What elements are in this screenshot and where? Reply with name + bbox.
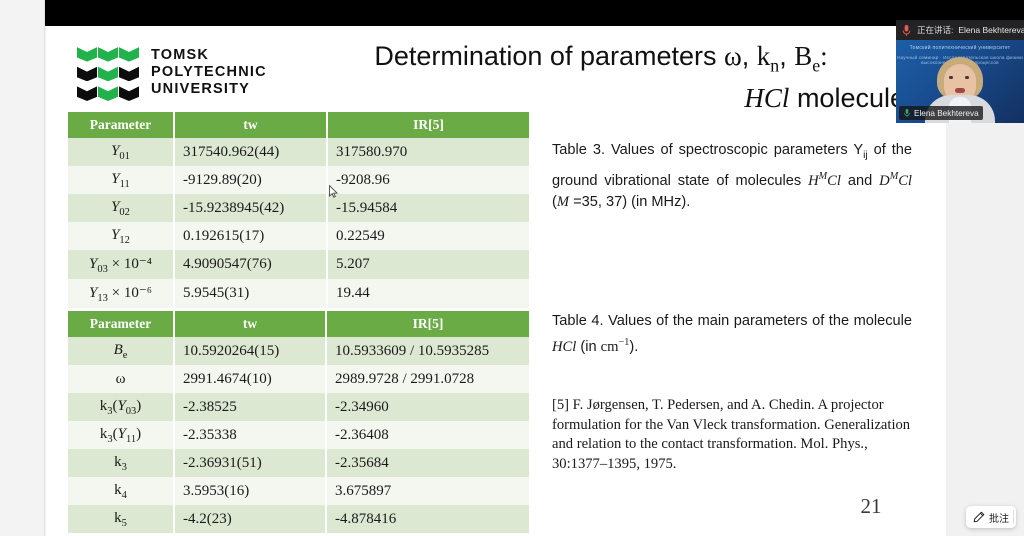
table-row: Y01317540.962(44)317580.970 (68, 138, 529, 166)
table-4-col-parameter: Parameter (68, 311, 174, 337)
cell-ir-value: 2989.9728 / 2991.0728 (326, 365, 529, 393)
cell-ir-value: -2.34960 (326, 393, 529, 421)
slide-title-line-2: HCl molecule (291, 82, 911, 115)
logo-line-1: TOMSK (151, 47, 267, 64)
table-4-col-ir: IR[5] (326, 311, 529, 337)
speaking-now-label: 正在讲话: (917, 24, 953, 36)
page-left-margin (0, 0, 45, 536)
video-inner-slide-title: Томский политехнический университет (896, 45, 1024, 51)
logo-line-2: POLYTECHNIC (151, 64, 267, 81)
logo-line-3: UNIVERSITY (151, 81, 267, 98)
cell-ir-value: -4.878416 (326, 505, 529, 533)
microphone-icon (901, 24, 912, 37)
video-tile-header: 正在讲话: Elena Bekhtereva (896, 20, 1024, 40)
title-k: k (757, 41, 771, 71)
table-row: Y13 × 10⁻⁶5.9545(31)19.44 (68, 279, 529, 308)
table-row: k3(Y11)-2.35338-2.36408 (68, 421, 529, 449)
table-4-header-row: Parameter tw IR[5] (68, 311, 529, 337)
title-comma-1: , (742, 41, 757, 71)
table-row: Y11-9129.89(20)-9208.96 (68, 166, 529, 194)
participant-video-tile[interactable]: 正在讲话: Elena Bekhtereva Томский политехни… (896, 20, 1024, 123)
cell-parameter: k4 (68, 477, 174, 505)
cell-parameter: k3(Y11) (68, 421, 174, 449)
cell-ir-value: 5.207 (327, 250, 529, 279)
active-speaker-name: Elena Bekhtereva (958, 25, 1024, 35)
tpu-logo-mark-icon (77, 43, 139, 101)
cell-ir-value: 0.22549 (327, 222, 529, 250)
annotate-label: 批注 (989, 510, 1009, 525)
table-row: Be10.5920264(15)10.5933609 / 10.5935285 (68, 337, 529, 365)
cell-tw-value: -4.2(23) (174, 505, 326, 533)
toolbar-divider (1013, 510, 1014, 524)
title-k-subscript: n (770, 55, 779, 75)
cell-tw-value: 2991.4674(10) (174, 365, 326, 393)
title-omega: ω (724, 41, 742, 71)
cell-ir-value: -2.35684 (326, 449, 529, 477)
cell-tw-value: -15.9238945(42) (174, 194, 327, 222)
cell-tw-value: 3.5953(16) (174, 477, 326, 505)
slide-title: Determination of parameters ω, kn, Be: H… (291, 40, 911, 115)
tpu-logo-wordmark: TOMSK POLYTECHNIC UNIVERSITY (151, 47, 267, 98)
cell-parameter: Y02 (68, 194, 174, 222)
caption-3-molecule-hcl: HMCl (808, 173, 841, 189)
tpu-logo: TOMSK POLYTECHNIC UNIVERSITY (77, 43, 267, 101)
reference-5: [5] F. Jørgensen, T. Pedersen, and A. Ch… (552, 396, 912, 474)
table-row: ω2991.4674(10)2989.9728 / 2991.0728 (68, 365, 529, 393)
cell-tw-value: 10.5920264(15) (174, 337, 326, 365)
cell-parameter: ω (68, 365, 174, 393)
table-row: k43.5953(16)3.675897 (68, 477, 529, 505)
title-text-prefix: Determination of parameters (374, 41, 724, 71)
cell-parameter: k3 (68, 449, 174, 477)
cell-ir-value: 317580.970 (327, 138, 529, 166)
cell-tw-value: -2.36931(51) (174, 449, 326, 477)
cell-ir-value: 10.5933609 / 10.5935285 (326, 337, 529, 365)
table-row: Y120.192615(17)0.22549 (68, 222, 529, 250)
table-row: Y03 × 10⁻⁴4.9090547(76)5.207 (68, 250, 529, 279)
cell-tw-value: 5.9545(31) (174, 279, 327, 308)
table-4-caption: Table 4. Values of the main parameters o… (552, 311, 912, 358)
pencil-icon (973, 511, 985, 523)
cell-parameter: Y11 (68, 166, 174, 194)
caption-3-sub-ij: ij (863, 150, 868, 161)
cell-parameter: Be (68, 337, 174, 365)
cell-parameter: Y01 (68, 138, 174, 166)
cell-tw-value: 4.9090547(76) (174, 250, 327, 279)
cell-tw-value: -2.35338 (174, 421, 326, 449)
table-3-spectroscopic-parameters: Parameter tw IR[5] Y01317540.962(44)3175… (68, 112, 529, 308)
cell-ir-value: -2.36408 (326, 421, 529, 449)
title-comma-2: , (779, 41, 794, 71)
title-colon: : (820, 41, 828, 71)
cell-tw-value: 0.192615(17) (174, 222, 327, 250)
cell-parameter: Y03 × 10⁻⁴ (68, 250, 174, 279)
table-row: k5-4.2(23)-4.878416 (68, 505, 529, 533)
cell-ir-value: -9208.96 (327, 166, 529, 194)
title-molecule-formula: HCl (744, 83, 789, 113)
title-B: B (794, 41, 812, 71)
table-4-main-parameters: Parameter tw IR[5] Be10.5920264(15)10.59… (68, 311, 529, 533)
table-3-col-parameter: Parameter (68, 112, 174, 138)
cell-parameter: Y12 (68, 222, 174, 250)
screenshare-letterbox-bar (45, 0, 1024, 26)
cell-parameter: k3(Y03) (68, 393, 174, 421)
table-3-col-tw: tw (174, 112, 327, 138)
title-molecule-word: molecule (789, 83, 905, 113)
video-tile-body: Томский политехнический университет Науч… (896, 40, 1024, 123)
cell-ir-value: 3.675897 (326, 477, 529, 505)
cell-parameter: k5 (68, 505, 174, 533)
presentation-slide: TOMSK POLYTECHNIC UNIVERSITY Determinati… (46, 26, 946, 536)
slide-page-number: 21 (836, 494, 906, 519)
table-3-header-row: Parameter tw IR[5] (68, 112, 529, 138)
table-3-caption: Table 3. Values of spectroscopic paramet… (552, 140, 912, 213)
annotate-button[interactable]: 批注 (966, 506, 1016, 528)
table-row: Y02-15.9238945(42)-15.94584 (68, 194, 529, 222)
shared-screen-view: TOMSK POLYTECHNIC UNIVERSITY Determinati… (0, 0, 1024, 536)
cell-ir-value: 19.44 (327, 279, 529, 308)
cell-ir-value: -15.94584 (327, 194, 529, 222)
cell-tw-value: -9129.89(20) (174, 166, 327, 194)
title-B-subscript: e (812, 55, 820, 75)
table-3-col-ir: IR[5] (327, 112, 529, 138)
table-4-body: Be10.5920264(15)10.5933609 / 10.5935285ω… (68, 337, 529, 533)
microphone-icon-small (903, 108, 911, 118)
participant-name-label: Elena Bekhtereva (914, 109, 979, 118)
cell-parameter: Y13 × 10⁻⁶ (68, 279, 174, 308)
caption-3-molecule-dcl: DMCl (879, 173, 912, 189)
cell-tw-value: -2.38525 (174, 393, 326, 421)
table-4-col-tw: tw (174, 311, 326, 337)
cell-tw-value: 317540.962(44) (174, 138, 327, 166)
participant-name-badge: Elena Bekhtereva (899, 106, 983, 120)
table-row: k3-2.36931(51)-2.35684 (68, 449, 529, 477)
table-row: k3(Y03)-2.38525-2.34960 (68, 393, 529, 421)
table-3-body: Y01317540.962(44)317580.970Y11-9129.89(2… (68, 138, 529, 308)
caption-4-molecule-hcl: HCl (552, 339, 576, 355)
